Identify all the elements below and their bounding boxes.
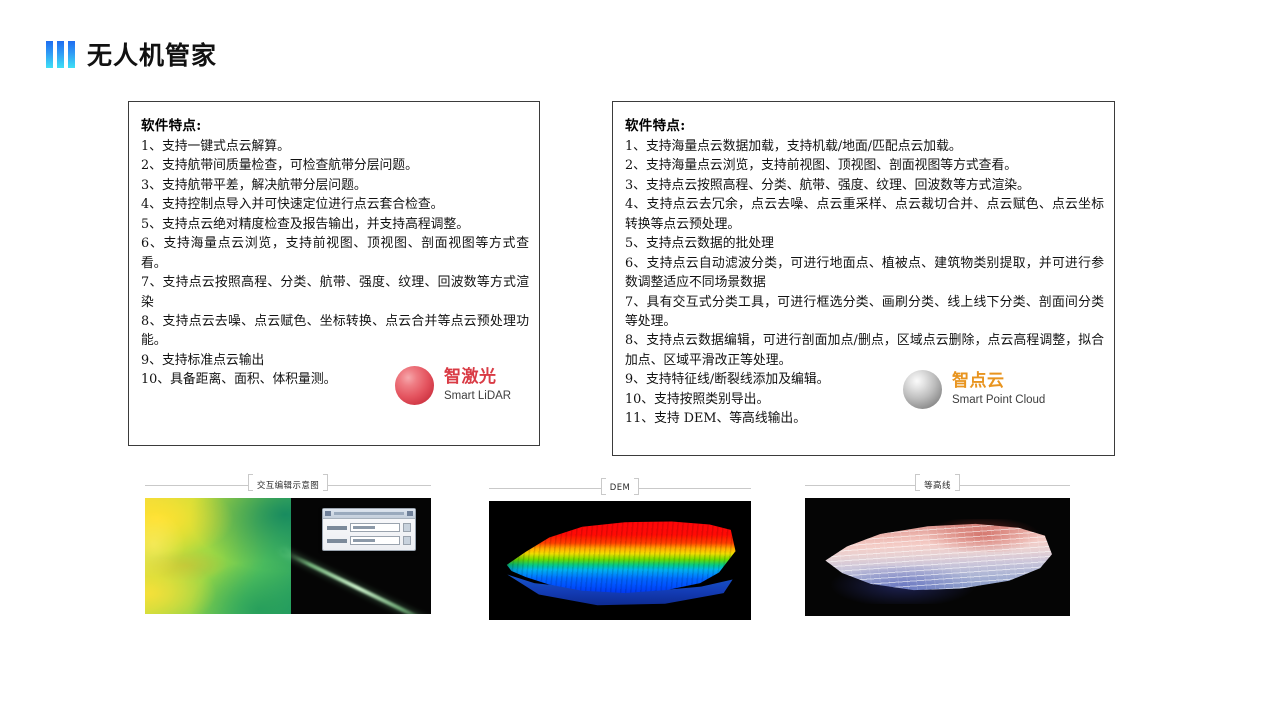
caption-rule-right <box>328 485 431 486</box>
figure-dem: DEM <box>489 479 751 620</box>
field-select[interactable] <box>350 523 400 532</box>
list-item: 5、支持点云数据的批处理 <box>625 234 1104 253</box>
sub-logo-name-cn: 智激光 <box>444 368 511 387</box>
dem-shading-overlay <box>502 518 738 594</box>
caption-label: 交互编辑示意图 <box>248 479 328 491</box>
figure-caption: 等高线 <box>805 476 1070 494</box>
caption-label: 等高线 <box>915 479 960 491</box>
chevron-down-icon[interactable] <box>403 536 411 545</box>
editing-dialog <box>322 508 416 551</box>
sub-logo-name-en: Smart Point Cloud <box>952 394 1045 407</box>
figure-interactive-editing: 交互编辑示意图 <box>145 476 431 614</box>
list-item: 3、支持点云按照高程、分类、航带、强度、纹理、回波数等方式渲染。 <box>625 176 1104 195</box>
caption-rule-left <box>145 485 248 486</box>
sub-logo-smart-point-cloud: 智点云 Smart Point Cloud <box>903 370 1045 409</box>
caption-label: DEM <box>601 483 639 493</box>
sub-logo-name-cn: 智点云 <box>952 372 1045 391</box>
grey-sphere-icon <box>903 370 942 409</box>
three-bars-logo-icon <box>46 41 75 68</box>
page-title: 无人机管家 <box>87 36 217 72</box>
sub-logo-name-en: Smart LiDAR <box>444 390 511 403</box>
figure-contour: 等高线 <box>805 476 1070 616</box>
dialog-title-bar <box>323 509 415 519</box>
list-item: 5、支持点云绝对精度检查及报告输出，并支持高程调整。 <box>141 215 529 234</box>
sub-logo-smart-lidar: 智激光 Smart LiDAR <box>395 366 511 405</box>
caption-rule-left <box>805 485 915 486</box>
figure-image-interactive-editing <box>145 498 431 614</box>
list-item: 3、支持航带平差，解决航带分层问题。 <box>141 176 529 195</box>
caption-rule-right <box>639 488 751 489</box>
contour-scene <box>805 498 1070 616</box>
caption-rule-left <box>489 488 601 489</box>
list-item: 11、支持 DEM、等高线输出。 <box>625 409 1104 428</box>
list-item: 1、支持一键式点云解算。 <box>141 137 529 156</box>
list-item: 6、支持点云自动滤波分类，可进行地面点、植被点、建筑物类别提取，并可进行参数调整… <box>625 254 1104 293</box>
figure-strip: 交互编辑示意图 <box>0 476 1280 656</box>
field-label <box>327 526 347 530</box>
list-item: 8、支持点云去噪、点云赋色、坐标转换、点云合并等点云预处理功能。 <box>141 312 529 351</box>
dialog-field-row <box>327 536 411 545</box>
panel-title: 软件特点: <box>625 114 1104 134</box>
figure-image-dem <box>489 501 751 620</box>
point-cloud-strip <box>282 549 431 614</box>
dem-scene <box>489 501 751 620</box>
list-item: 4、支持控制点导入并可快速定位进行点云套合检查。 <box>141 195 529 214</box>
point-cloud-view <box>291 498 431 614</box>
feature-list: 1、支持一键式点云解算。 2、支持航带间质量检查，可检查航带分层问题。 3、支持… <box>141 137 529 390</box>
field-select[interactable] <box>350 536 400 545</box>
list-item: 7、具有交互式分类工具，可进行框选分类、画刷分类、线上线下分类、剖面间分类等处理… <box>625 293 1104 332</box>
list-item: 8、支持点云数据编辑，可进行剖面加点/删点，区域点云删除，点云高程调整，拟合加点… <box>625 331 1104 370</box>
caption-rule-right <box>960 485 1070 486</box>
brand-header: 无人机管家 <box>46 36 217 72</box>
panel-title: 软件特点: <box>141 114 529 134</box>
list-item: 2、支持航带间质量检查，可检查航带分层问题。 <box>141 156 529 175</box>
chevron-down-icon[interactable] <box>403 523 411 532</box>
figure-caption: DEM <box>489 479 751 497</box>
red-sphere-icon <box>395 366 434 405</box>
figure-image-contour <box>805 498 1070 616</box>
list-item: 2、支持海量点云浏览，支持前视图、顶视图、剖面视图等方式查看。 <box>625 156 1104 175</box>
terrain-colormap-view <box>145 498 291 614</box>
dialog-field-row <box>327 523 411 532</box>
field-label <box>327 539 347 543</box>
list-item: 7、支持点云按照高程、分类、航带、强度、纹理、回波数等方式渲染 <box>141 273 529 312</box>
list-item: 1、支持海量点云数据加载，支持机载/地面/匹配点云加载。 <box>625 137 1104 156</box>
list-item: 6、支持海量点云浏览，支持前视图、顶视图、剖面视图等方式查看。 <box>141 234 529 273</box>
figure-caption: 交互编辑示意图 <box>145 476 431 494</box>
list-item: 4、支持点云去冗余，点云去噪、点云重采样、点云裁切合并、点云赋色、点云坐标转换等… <box>625 195 1104 234</box>
